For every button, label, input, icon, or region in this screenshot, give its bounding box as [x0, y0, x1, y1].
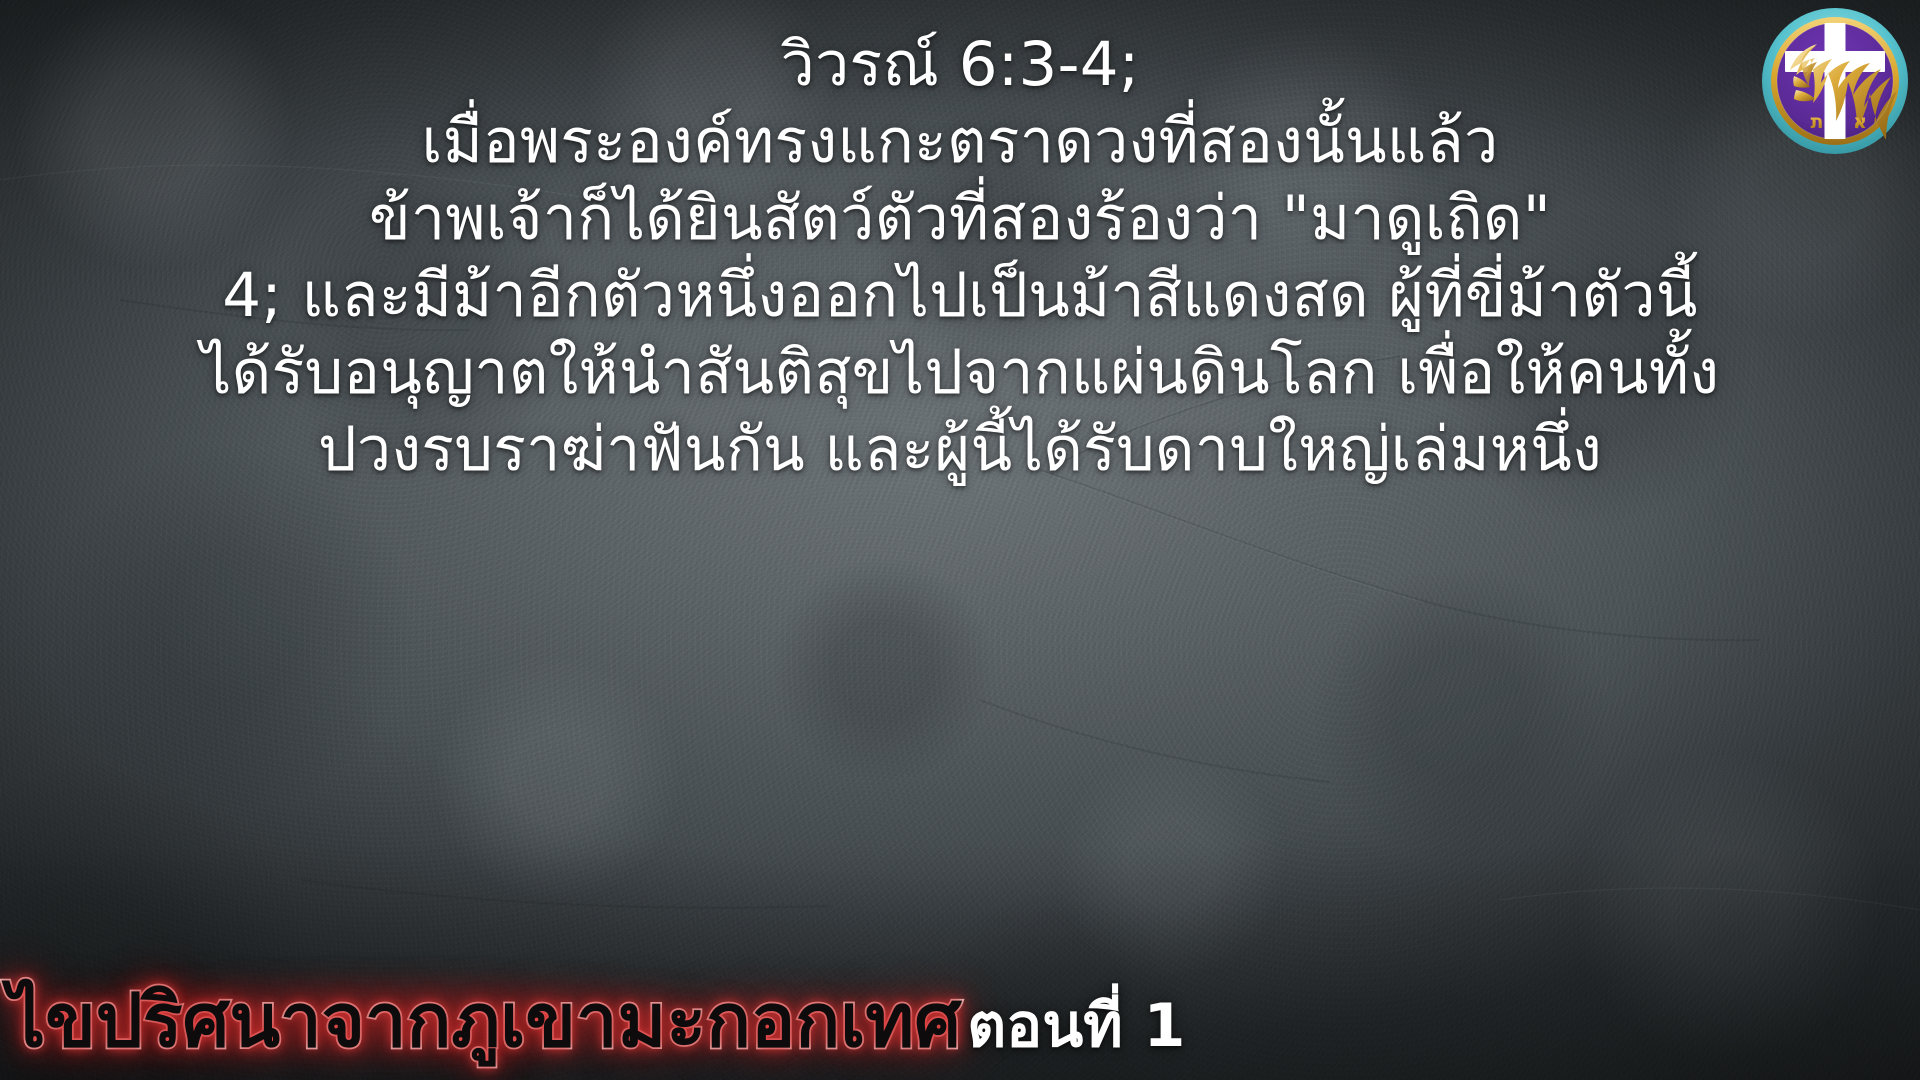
series-episode-text: ตอนที่ 1 [967, 978, 1185, 1074]
series-title-text: ไขปริศนาจากภูเขามะกอกเทศ [8, 973, 961, 1069]
scripture-line-3: 4; และมีม้าอีกตัวหนึ่งออกไปเป็นม้าสีแดงส… [26, 257, 1894, 334]
series-title-band: ไขปริศนาจากภูเขามะกอกเทศ ตอนที่ 1 [0, 930, 1920, 1080]
scripture-line-1: เมื่อพระองค์ทรงแกะตราดวงที่สองนั้นแล้ว [26, 103, 1894, 180]
logo-hebrew-tav: ת [1811, 111, 1824, 133]
logo-hebrew-aleph: א [1853, 111, 1867, 133]
series-title-line: ไขปริศนาจากภูเขามะกอกเทศ ตอนที่ 1 [8, 973, 1185, 1074]
slide-canvas: วิวรณ์ 6:3-4; เมื่อพระองค์ทรงแกะตราดวงที… [0, 0, 1920, 1080]
scripture-text-block: วิวรณ์ 6:3-4; เมื่อพระองค์ทรงแกะตราดวงที… [0, 26, 1920, 488]
scripture-line-reference: วิวรณ์ 6:3-4; [26, 26, 1894, 103]
scripture-line-2: ข้าพเจ้าก็ได้ยินสัตว์ตัวที่สองร้องว่า "ม… [26, 180, 1894, 257]
lion-cross-emblem-logo: ת א [1760, 6, 1910, 156]
scripture-line-5: ปวงรบราฆ่าฟันกัน และผู้นี้ได้รับดาบใหญ่เ… [26, 411, 1894, 488]
scripture-line-4: ได้รับอนุญาตให้นำสันติสุขไปจากแผ่นดินโลก… [26, 334, 1894, 411]
